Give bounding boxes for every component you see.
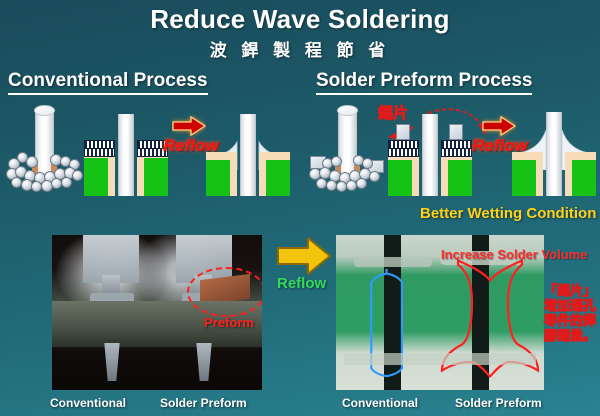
section-heading-solder-preform: Solder Preform Process — [316, 70, 532, 95]
preform-highlight-ellipse — [187, 267, 262, 317]
photo-left-caption-conventional: Conventional — [50, 396, 126, 410]
solder-ball — [331, 156, 342, 167]
solder-ball — [356, 178, 367, 189]
pcb-substrate — [266, 160, 290, 196]
through-hole-pin — [118, 114, 134, 196]
photo-right-caption-conventional: Conventional — [342, 396, 418, 410]
chinese-summary-note: 「錫片」增加通孔零件的焊腳錫量。 — [542, 283, 598, 343]
page-title: Reduce Wave Soldering — [0, 4, 600, 35]
solder-preform-on-pad — [449, 124, 463, 140]
pcb-substrate — [388, 160, 412, 196]
component-pin-top — [34, 105, 55, 116]
reflow-label-center: Reflow — [277, 275, 326, 292]
photo-right-caption-preform: Solder Preform — [455, 396, 542, 410]
pcb-substrate — [512, 160, 536, 196]
better-wetting-note: Better Wetting Condition — [420, 205, 596, 222]
pcb-cross-section-after — [206, 138, 290, 196]
page-subtitle: 波 銲 製 程 節 省 — [0, 36, 600, 61]
diagram-conventional: Reflow — [0, 100, 300, 196]
pcb-cross-section-before-preform — [388, 138, 472, 196]
photo-conventional-cross-section — [52, 235, 262, 390]
photo-pin-lower — [192, 343, 216, 381]
solder-ball — [61, 177, 72, 188]
component-pin-top — [337, 105, 358, 116]
diagram-solder-preform: 錫片 — [300, 100, 600, 196]
solder-ball-cluster-conventional — [6, 100, 84, 192]
reflow-arrow-icon-right — [482, 115, 516, 137]
pcb-substrate — [84, 158, 108, 196]
photo-pad-lower — [440, 353, 536, 365]
solder-ball — [72, 170, 83, 181]
solder-ball — [369, 171, 380, 182]
reflow-arrow-icon-left — [172, 115, 206, 137]
solder-paste — [388, 148, 419, 157]
slide-root: Reduce Wave Soldering 波 銲 製 程 節 省 Conven… — [0, 0, 600, 416]
solder-ball — [26, 156, 38, 168]
reflow-arrow-icon-center — [276, 236, 332, 276]
solder-paste — [84, 148, 115, 157]
pcb-substrate — [448, 160, 472, 196]
pcb-substrate — [572, 160, 596, 196]
increase-solder-volume-annotation: Increase Solder Volume — [441, 247, 587, 262]
pcb-cross-section-before — [84, 138, 168, 196]
pcb-substrate — [144, 158, 168, 196]
photo-pin-lower — [100, 343, 124, 381]
section-heading-conventional: Conventional Process — [8, 70, 208, 95]
photo-left-caption-preform: Solder Preform — [160, 396, 247, 410]
preform-annotation: Preform — [204, 315, 254, 330]
solder-paste — [441, 148, 472, 157]
pcb-substrate — [206, 160, 230, 196]
pcb-cross-section-after-preform — [512, 138, 596, 196]
photo-pad-lower — [344, 353, 440, 365]
solder-preform-on-pad — [396, 124, 410, 140]
through-hole-pin — [422, 114, 438, 196]
